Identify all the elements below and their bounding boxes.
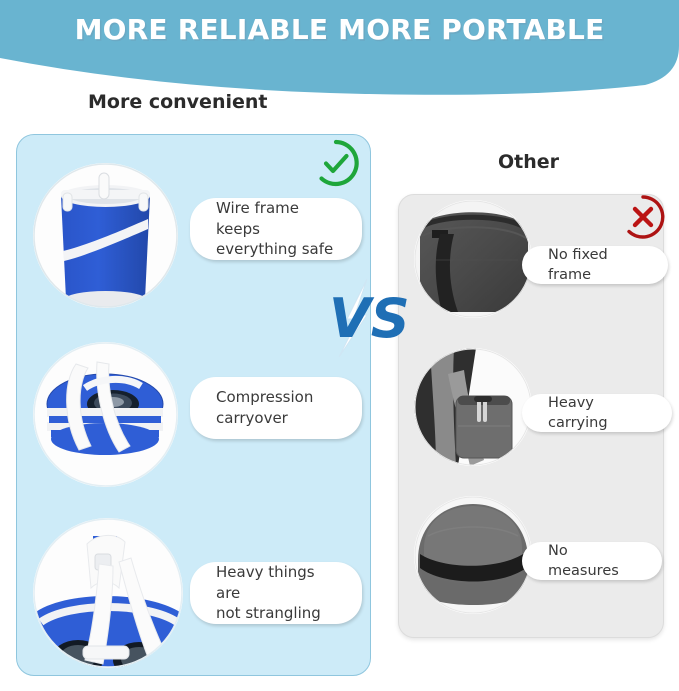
vs-badge: VS xyxy=(327,275,419,360)
list-item xyxy=(33,342,178,487)
list-item xyxy=(33,163,178,308)
feature-label: Heavy carrying xyxy=(522,394,672,432)
list-item xyxy=(414,496,532,614)
list-item-label: Wire frame keeps everything safe xyxy=(216,198,342,260)
blue-pop-up-laundry-hamper-photo xyxy=(33,163,178,308)
check-circle-icon xyxy=(310,137,362,194)
list-item-label: No fixed frame xyxy=(548,245,648,285)
feature-label: No measures xyxy=(522,542,662,580)
page-title: MORE RELIABLE MORE PORTABLE xyxy=(0,13,679,46)
gray-fabric-bag-photo xyxy=(414,200,532,318)
list-item-label: Heavy carrying xyxy=(548,393,652,433)
list-item xyxy=(414,348,532,466)
header-banner: MORE RELIABLE MORE PORTABLE xyxy=(0,0,679,100)
cross-circle-icon xyxy=(619,193,667,246)
list-item-label: No measures xyxy=(548,541,642,581)
feature-label: Wire frame keeps everything safe xyxy=(190,198,362,260)
vs-label: VS xyxy=(329,287,410,350)
feature-label: Compression carryover xyxy=(190,377,362,439)
list-item-label: Heavy things are not strangling xyxy=(216,562,342,624)
right-column-heading: Other xyxy=(498,151,559,173)
list-item xyxy=(33,518,183,668)
blue-hamper-carry-straps-photo xyxy=(33,518,183,668)
left-column-heading: More convenient xyxy=(88,91,267,113)
feature-label: Heavy things are not strangling xyxy=(190,562,362,624)
feature-label: No fixed frame xyxy=(522,246,668,284)
gray-bag-compressed-photo xyxy=(414,496,532,614)
gray-bag-shoulder-carry-photo xyxy=(414,348,532,466)
list-item-label: Compression carryover xyxy=(216,387,313,428)
list-item xyxy=(414,200,532,318)
blue-hamper-collapsed-folded-photo xyxy=(33,342,178,487)
